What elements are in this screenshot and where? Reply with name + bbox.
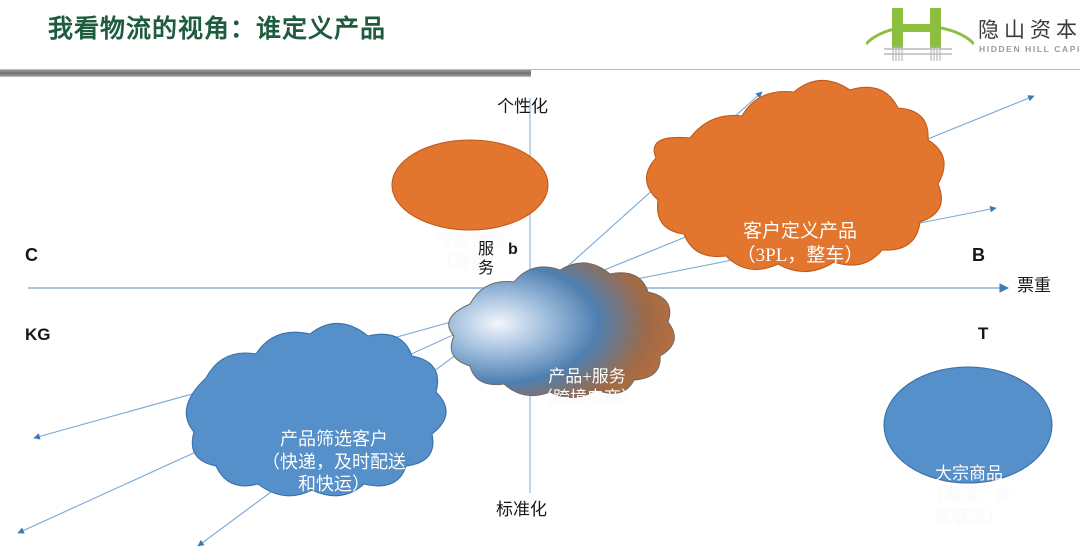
logo-chinese-name: 隐山资本 [978,14,1080,44]
bubble-label-product-filters-customer: 产品筛选客户 （快递，及时配送 和快运） [204,428,464,496]
axis-label-top: 个性化 [497,92,548,117]
hidden-hill-bridge-icon [866,4,974,62]
header-divider-bold [0,70,531,77]
y-axis-marker: b [508,241,518,259]
logo-english-name: HIDDEN HILL CAPITAL [979,44,1080,54]
quadrant-label-c: C [25,245,38,266]
bubble-label-bulk-commodity: 大宗商品 （海运、多 式联运） [905,463,1033,527]
company-logo: 隐山资本 HIDDEN HILL CAPITAL [866,4,1072,64]
bubble-label-product-plus-service: 产品+服务 （跨境电商） [492,366,682,409]
diagram-canvas: 专业物流 （冷链） 客户定义产品 （3PL，整车） 产品+服务 （跨境电商） 产… [0,78,1080,560]
page-title: 我看物流的视角：谁定义产品 [48,9,386,45]
quadrant-label-b: B [972,245,985,266]
bubble-label-cold-chain: 专业物流 （冷链） [398,230,543,273]
slide: 我看物流的视角：谁定义产品 隐山资本 HIDDEN HILL CAPITAL [0,0,1080,560]
quadrant-label-kg: KG [25,325,51,345]
axis-label-right: 票重 [1017,271,1051,296]
axis-label-bottom: 标准化 [496,495,547,520]
y-axis-name: 服务 [478,240,502,278]
bubble-cold-chain[interactable] [392,140,548,230]
bubble-label-customer-defined: 客户定义产品 （3PL，整车） [690,220,910,268]
quadrant-label-t: T [978,324,988,344]
